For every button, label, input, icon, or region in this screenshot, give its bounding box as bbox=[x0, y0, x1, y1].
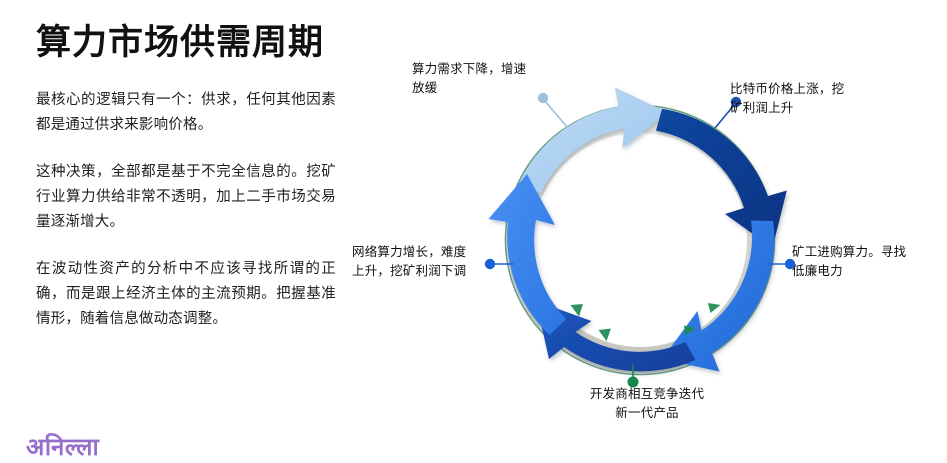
segment-bottom bbox=[536, 301, 696, 371]
callout-btc-price: 比特币价格上涨，挖 矿利润上升 bbox=[730, 80, 880, 118]
page-title: 算力市场供需周期 bbox=[36, 14, 324, 65]
body-copy: 最核心的逻辑只有一个：供求，任何其他因素都是通过供求来影响价格。 这种决策，全部… bbox=[36, 88, 336, 354]
callout-miner-buy: 矿工进购算力。寻找 低廉电力 bbox=[792, 243, 942, 281]
callout-demand-drop: 算力需求下降，增速 放缓 bbox=[412, 60, 562, 98]
cycle-diagram bbox=[472, 72, 808, 408]
paragraph-3: 在波动性资产的分析中不应该寻找所谓的正确，而是跟上经济主体的主流预期。把握基准情… bbox=[36, 257, 336, 332]
callout-hashrate-grow: 网络算力增长，难度 上升，挖矿利润下调 bbox=[352, 243, 502, 281]
callout-dev-compete: 开发商相互竞争迭代 新一代产品 bbox=[552, 385, 742, 423]
watermark-logo: अनिल्ला bbox=[26, 430, 99, 463]
paragraph-1: 最核心的逻辑只有一个：供求，任何其他因素都是通过供求来影响价格。 bbox=[36, 88, 336, 138]
paragraph-2: 这种决策，全部都是基于不完全信息的。挖矿行业算力供给非常不透明，加上二手市场交易… bbox=[36, 160, 336, 235]
